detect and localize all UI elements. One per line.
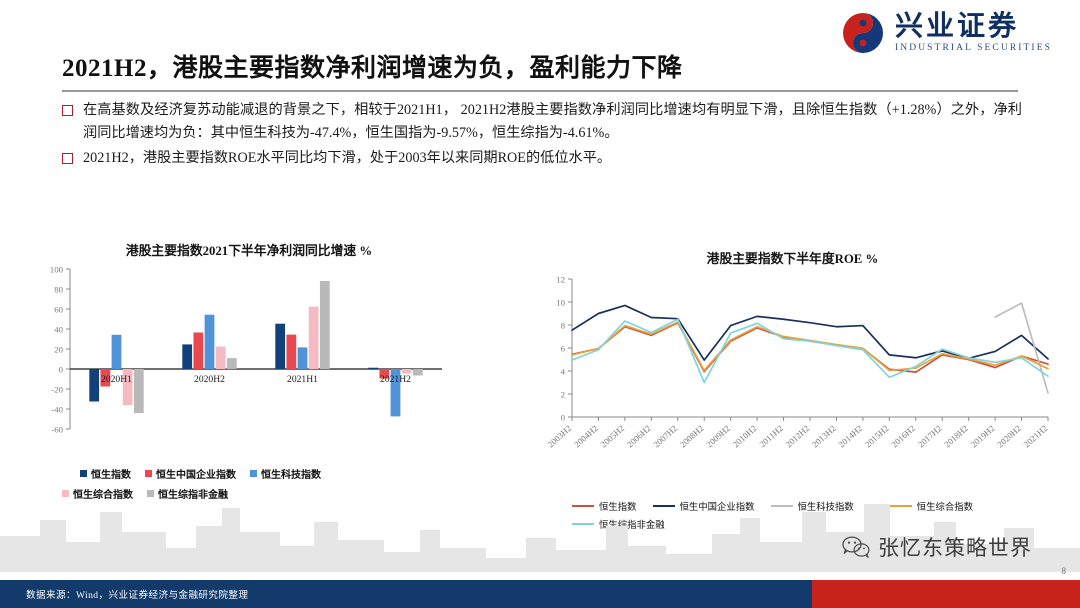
y-axis-tick: 8 <box>561 320 566 330</box>
x-axis-tick: 2016H2 <box>889 423 917 449</box>
legend-item: 恒生科技指数 <box>250 466 321 481</box>
x-axis-tick: 2013H2 <box>810 423 838 449</box>
legend-item: 恒生指数 <box>80 466 131 481</box>
line-series <box>995 303 1048 393</box>
bar <box>193 333 203 370</box>
x-axis-tick: 2007H2 <box>651 423 679 449</box>
x-axis-tick: 2012H2 <box>784 423 812 449</box>
bar <box>89 369 99 402</box>
logo-text-cn: 兴业证券 <box>895 12 1052 40</box>
y-axis-tick: 6 <box>561 343 566 353</box>
x-axis-category-label: 2020H1 <box>101 374 132 385</box>
chart-title: 港股主要指数下半年度ROE % <box>520 248 1065 267</box>
data-source-note: 数据来源：Wind，兴业证券经济与金融研究院整理 <box>26 587 248 601</box>
bar <box>134 369 144 413</box>
legend-label: 恒生综合指数 <box>73 486 133 501</box>
chart-roe: 港股主要指数下半年度ROE % 1210864202003H22004H2200… <box>520 248 1065 535</box>
bullet-square-icon <box>62 105 73 116</box>
x-axis-tick: 2006H2 <box>625 423 653 449</box>
bar <box>275 324 285 369</box>
y-axis-tick: -20 <box>51 384 63 394</box>
line-series <box>572 319 1048 382</box>
line-chart-canvas: 1210864202003H22004H22005H22006H22007H22… <box>520 267 1065 492</box>
y-axis-tick: 60 <box>54 304 63 314</box>
bullet-text: 在高基数及经济复苏动能减退的背景之下，相较于2021H1， 2021H2港股主要… <box>83 99 1022 145</box>
bar <box>205 315 215 369</box>
bullet-list: 在高基数及经济复苏动能减退的背景之下，相较于2021H1， 2021H2港股主要… <box>62 99 1022 172</box>
legend-item: 恒生综合指数 <box>62 486 133 501</box>
legend-swatch <box>250 470 257 477</box>
wechat-icon <box>841 535 871 559</box>
legend-swatch <box>62 490 69 497</box>
logo-text-en: INDUSTRIAL SECURITIES <box>895 44 1052 54</box>
list-item: 2021H2，港股主要指数ROE水平同比均下滑，处于2003年以来同期ROE的低… <box>62 147 1022 170</box>
legend-item: 恒生中国企业指数 <box>145 466 236 481</box>
line-series <box>572 323 1048 372</box>
chart-profit-growth: 港股主要指数2021下半年净利润同比增速 % 100806040200-20-4… <box>30 240 450 506</box>
y-axis-tick: -60 <box>51 424 63 434</box>
chart-legend: 恒生指数恒生中国企业指数恒生科技指数恒生综合指数恒生综指非金融 <box>30 466 450 506</box>
bullet-square-icon <box>62 153 73 164</box>
y-axis-tick: 0 <box>561 412 566 422</box>
y-axis-tick: -40 <box>51 404 63 414</box>
logo-mark-icon <box>840 10 886 56</box>
bar <box>402 369 412 374</box>
x-axis-tick: 2015H2 <box>863 423 891 449</box>
bar <box>368 368 378 369</box>
chart-title: 港股主要指数2021下半年净利润同比增速 % <box>48 240 450 259</box>
bar <box>182 344 192 369</box>
bar-chart-canvas: 100806040200-20-40-602020H12020H22021H12… <box>30 259 450 459</box>
x-axis-tick: 2019H2 <box>969 423 997 449</box>
bar <box>216 347 226 369</box>
y-axis-tick: 40 <box>54 324 63 334</box>
y-axis-tick: 100 <box>50 264 64 274</box>
legend-label: 恒生科技指数 <box>261 466 321 481</box>
x-axis-tick: 2017H2 <box>916 423 944 449</box>
x-axis-tick: 2010H2 <box>731 423 759 449</box>
legend-swatch <box>145 470 152 477</box>
x-axis-category-label: 2021H1 <box>287 374 318 385</box>
page-number: 8 <box>1062 566 1067 576</box>
wechat-badge: 张忆东策略世界 <box>841 532 1032 562</box>
x-axis-tick: 2009H2 <box>704 423 732 449</box>
x-axis-tick: 2021H2 <box>1022 423 1050 449</box>
legend-label: 恒生中国企业指数 <box>156 466 236 481</box>
x-axis-tick: 2018H2 <box>942 423 970 449</box>
legend-label: 恒生综指非金融 <box>158 486 228 501</box>
legend-label: 恒生指数 <box>91 466 131 481</box>
y-axis-tick: 20 <box>54 344 63 354</box>
x-axis-category-label: 2020H2 <box>194 374 225 385</box>
x-axis-tick: 2014H2 <box>836 423 864 449</box>
bar <box>112 335 122 369</box>
bar <box>298 347 308 369</box>
x-axis-tick: 2020H2 <box>995 423 1023 449</box>
footer-bar-accent <box>812 580 1080 608</box>
bar <box>309 307 319 369</box>
legend-swatch <box>80 470 87 477</box>
y-axis-tick: 0 <box>59 364 64 374</box>
title-divider <box>62 90 1018 92</box>
x-axis-tick: 2004H2 <box>572 423 600 449</box>
y-axis-tick: 2 <box>561 389 565 399</box>
y-axis-tick: 80 <box>54 284 63 294</box>
y-axis-tick: 12 <box>556 274 565 284</box>
company-logo: 兴业证券 INDUSTRIAL SECURITIES <box>840 10 1052 56</box>
legend-swatch <box>147 490 154 497</box>
bullet-text: 2021H2，港股主要指数ROE水平同比均下滑，处于2003年以来同期ROE的低… <box>83 147 1022 170</box>
x-axis-category-label: 2021H2 <box>380 374 411 385</box>
x-axis-tick: 2008H2 <box>678 423 706 449</box>
x-axis-tick: 2011H2 <box>757 423 785 449</box>
wechat-account-name: 张忆东策略世界 <box>878 532 1032 562</box>
x-axis-tick: 2003H2 <box>546 423 574 449</box>
y-axis-tick: 10 <box>556 297 565 307</box>
legend-item: 恒生综指非金融 <box>147 486 228 501</box>
page-title: 2021H2，港股主要指数净利润增速为负，盈利能力下降 <box>62 48 682 84</box>
bar <box>320 281 330 369</box>
bar <box>413 369 423 376</box>
x-axis-tick: 2005H2 <box>598 423 626 449</box>
bar <box>227 358 237 369</box>
y-axis-tick: 4 <box>561 366 566 376</box>
bar <box>286 335 296 369</box>
list-item: 在高基数及经济复苏动能减退的背景之下，相较于2021H1， 2021H2港股主要… <box>62 99 1022 145</box>
